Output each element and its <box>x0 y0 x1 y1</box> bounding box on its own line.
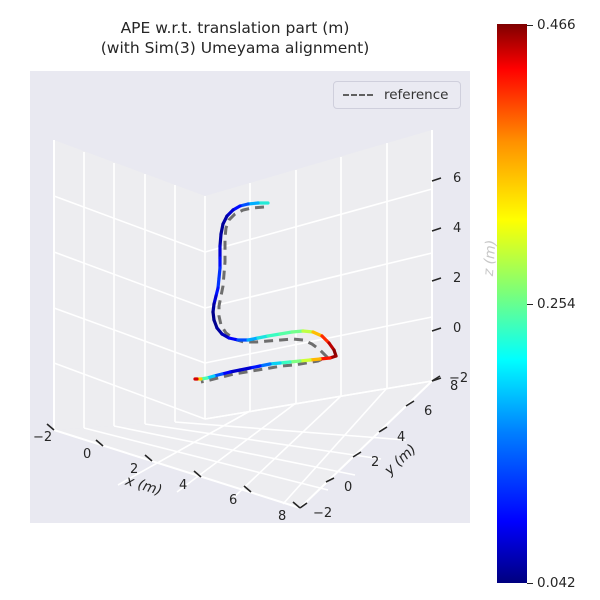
ytick-label-4: 6 <box>424 404 432 419</box>
trajectory-segment <box>292 331 303 332</box>
colorbar-tick-mark-mid <box>527 304 533 305</box>
ytick-label-2: 2 <box>371 455 379 470</box>
colorbar-min-label: 0.042 <box>537 575 576 591</box>
ytick-label-1: 0 <box>344 480 352 495</box>
ztick-label-0: −2 <box>449 371 468 386</box>
legend-dash-icon <box>343 94 373 96</box>
xtick-label-5: 8 <box>278 509 286 524</box>
legend-label-reference: reference <box>384 87 448 103</box>
colorbar-max-tick: 0.466 <box>527 17 597 33</box>
ztick-label-3: 4 <box>453 221 461 236</box>
ztick-label-1: 0 <box>453 321 461 336</box>
colorbar-tick-mark-min <box>527 583 533 584</box>
colorbar-mid-tick: 0.254 <box>527 296 597 312</box>
colorbar-min-tick: 0.042 <box>527 575 597 591</box>
pane-right <box>205 130 432 419</box>
colorbar-max-label: 0.466 <box>537 17 576 33</box>
ztick-label-4: 6 <box>453 171 461 186</box>
trajectory-segment <box>280 332 292 334</box>
pane-left <box>54 140 205 430</box>
xtick-label-1: 0 <box>83 447 91 462</box>
xtick-label-3: 4 <box>179 478 187 493</box>
colorbar-tick-mark-max <box>527 25 533 26</box>
xtick-label-0: −2 <box>33 430 52 445</box>
ytick-label-0: −2 <box>313 506 332 521</box>
legend: reference <box>333 81 461 109</box>
colorbar <box>497 24 527 583</box>
figure-canvas: APE w.r.t. translation part (m) (with Si… <box>0 0 600 600</box>
trajectory-segment <box>220 234 221 246</box>
colorbar-mid-label: 0.254 <box>537 296 576 312</box>
ztick-label-2: 2 <box>453 271 461 286</box>
trajectory-segment <box>268 334 280 336</box>
xtick-label-4: 6 <box>229 493 237 508</box>
ytick-label-3: 4 <box>397 430 405 445</box>
